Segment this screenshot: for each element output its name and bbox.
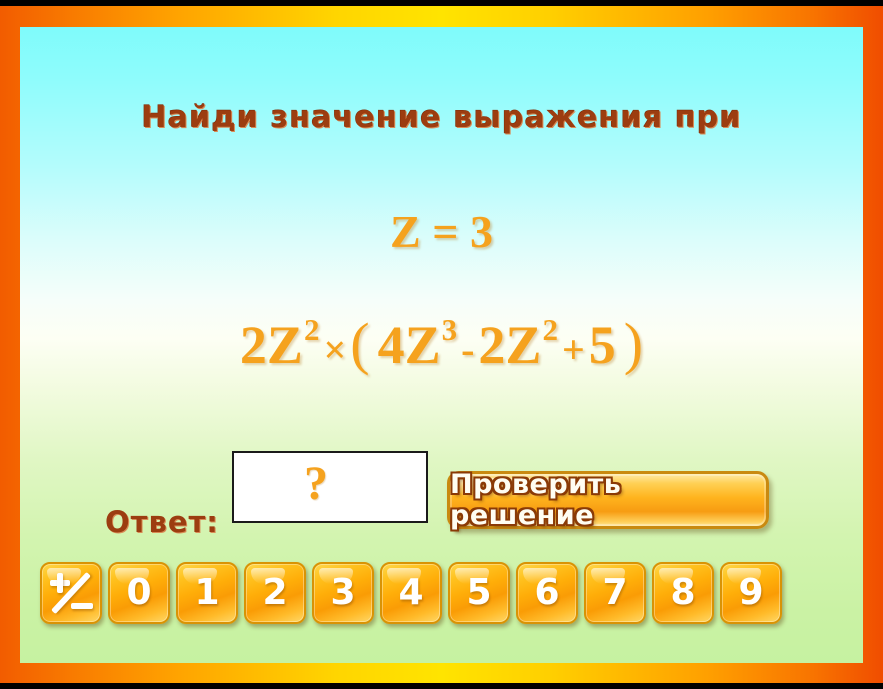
math-expression: 2Z2×(4Z3-2Z2+5) [20, 315, 863, 373]
key-digit-0[interactable]: 0 [108, 562, 170, 624]
page-title: Найди значение выражения при [20, 100, 863, 135]
key-digit-2[interactable]: 2 [244, 562, 306, 624]
key-digit-7[interactable]: 7 [584, 562, 646, 624]
key-digit-9-label: 9 [738, 575, 763, 611]
key-digit-5-label: 5 [466, 575, 491, 611]
key-digit-4[interactable]: 4 [380, 562, 442, 624]
lesson-stage: Найди значение выражения при Z = 3 2Z2×(… [20, 27, 863, 663]
key-digit-6[interactable]: 6 [516, 562, 578, 624]
key-digit-3-label: 3 [330, 575, 355, 611]
key-digit-4-label: 4 [398, 575, 423, 611]
key-digit-6-label: 6 [534, 575, 559, 611]
key-digit-7-label: 7 [602, 575, 627, 611]
expr-minus-operator: - [457, 327, 478, 372]
key-digit-9[interactable]: 9 [720, 562, 782, 624]
expr-constant: 5 [589, 315, 616, 375]
key-digit-8[interactable]: 8 [652, 562, 714, 624]
key-digit-2-label: 2 [262, 575, 287, 611]
expr-close-paren: ) [624, 311, 643, 376]
check-solution-button[interactable]: Проверить решение [447, 471, 769, 529]
expr-coefficient-2: 4Z [378, 315, 441, 375]
expr-coefficient-3: 2Z [478, 315, 541, 375]
answer-label: Ответ: [105, 505, 219, 539]
key-digit-8-label: 8 [670, 575, 695, 611]
answer-value: ? [304, 460, 328, 508]
key-digit-1-label: 1 [194, 575, 219, 611]
key-plus-minus[interactable] [40, 562, 102, 624]
expr-exponent-3: 2 [542, 312, 558, 347]
expr-exponent-1: 2 [304, 312, 320, 347]
expr-plus-operator: + [558, 327, 589, 372]
key-digit-3[interactable]: 3 [312, 562, 374, 624]
expr-open-paren: ( [350, 311, 369, 376]
plus-minus-icon [42, 564, 100, 622]
answer-input[interactable]: ? [232, 451, 428, 523]
key-digit-1[interactable]: 1 [176, 562, 238, 624]
key-digit-0-label: 0 [126, 575, 151, 611]
number-keypad: 0 1 2 3 4 5 6 7 8 [40, 562, 843, 624]
expr-exponent-2: 3 [442, 312, 458, 347]
check-solution-label: Проверить решение [450, 469, 766, 531]
app-root: Найди значение выражения при Z = 3 2Z2×(… [0, 0, 883, 689]
key-digit-5[interactable]: 5 [448, 562, 510, 624]
expr-times-operator: × [319, 327, 350, 372]
expr-coefficient-1: 2Z [240, 315, 303, 375]
given-value: Z = 3 [20, 205, 863, 258]
